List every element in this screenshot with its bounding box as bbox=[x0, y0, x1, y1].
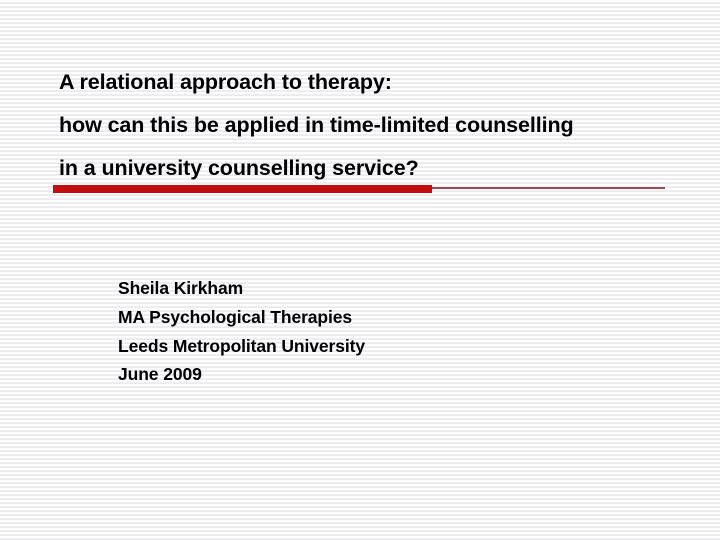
author-date: June 2009 bbox=[118, 360, 538, 389]
title-line-1: A relational approach to therapy: bbox=[59, 61, 679, 104]
divider-accent-bar bbox=[53, 185, 432, 193]
title-divider bbox=[53, 184, 665, 193]
slide-title: A relational approach to therapy: how ca… bbox=[59, 61, 679, 190]
author-institution: Leeds Metropolitan University bbox=[118, 332, 538, 361]
presentation-slide: A relational approach to therapy: how ca… bbox=[0, 0, 720, 540]
title-line-2: how can this be applied in time-limited … bbox=[59, 104, 679, 147]
author-course: MA Psychological Therapies bbox=[118, 303, 538, 332]
author-name: Sheila Kirkham bbox=[118, 274, 538, 303]
author-block: Sheila Kirkham MA Psychological Therapie… bbox=[118, 274, 538, 389]
